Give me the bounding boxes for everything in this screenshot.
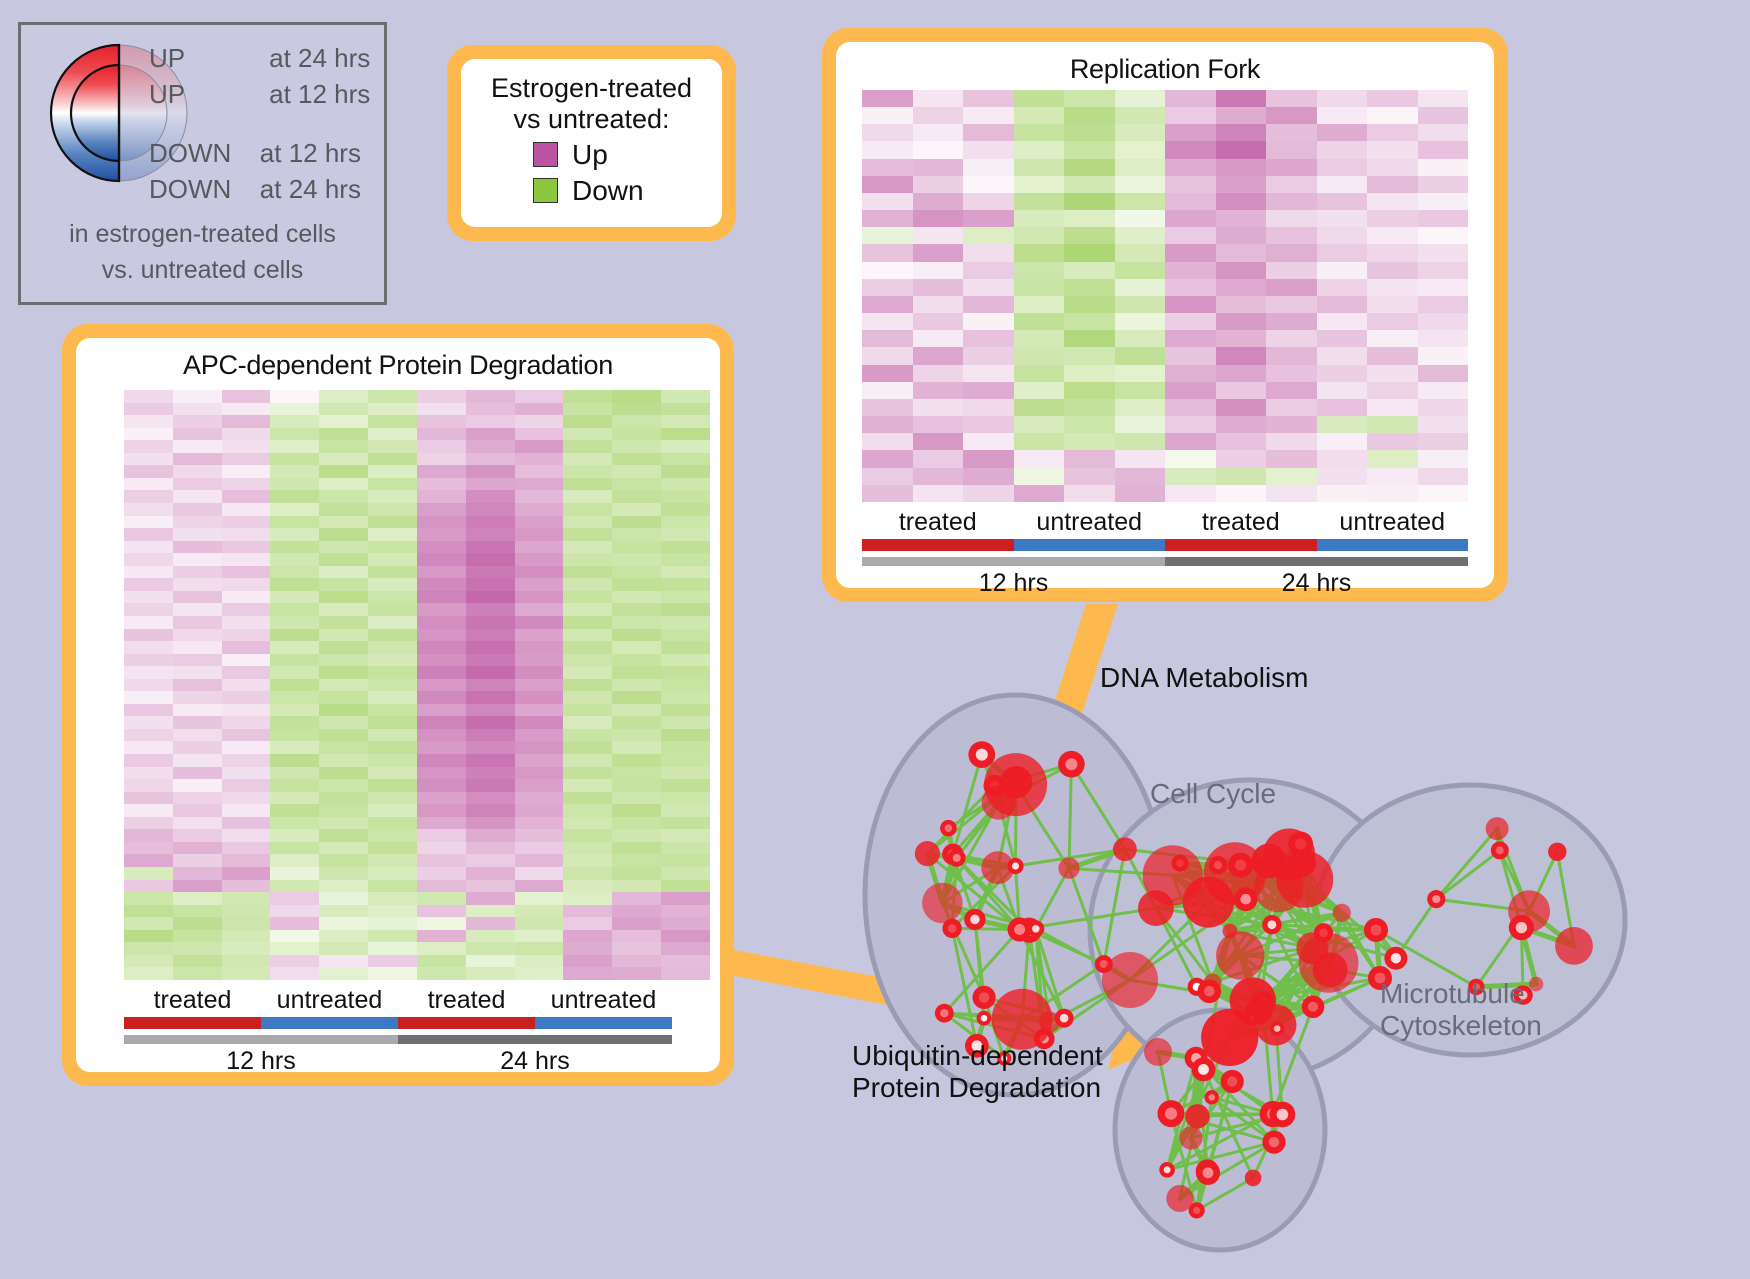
heatmap-cell (319, 516, 368, 529)
heatmap-cell (515, 767, 564, 780)
heatmap-cell (1317, 193, 1368, 210)
heatmap-cell (417, 767, 466, 780)
heatmap-cell (417, 779, 466, 792)
heatmap-cell (417, 465, 466, 478)
heatmap-cell (563, 440, 612, 453)
heatmap-cell (222, 616, 271, 629)
heatmap-cell (222, 578, 271, 591)
heatmap-cell (417, 880, 466, 893)
heatmap-cell (270, 629, 319, 642)
heatmap-cell (222, 880, 271, 893)
heatmap-cell (1216, 176, 1267, 193)
heatmap-cell (1115, 313, 1166, 330)
network-node (982, 785, 1016, 819)
network-node (1228, 853, 1253, 878)
heatmap-cell (862, 433, 913, 450)
heatmap-cell (1115, 141, 1166, 158)
heatmap-cell (661, 428, 710, 441)
heatmap-cell (1115, 124, 1166, 141)
heatmap-cell (963, 450, 1014, 467)
heatmap-cell (466, 428, 515, 441)
heatmap-cell (1115, 416, 1166, 433)
heatmap-cell (222, 641, 271, 654)
heatmap-cell (661, 754, 710, 767)
heatmap-cell (222, 767, 271, 780)
heatmap-cell (1115, 176, 1166, 193)
heatmap-cell (124, 867, 173, 880)
heatmap-cell (1367, 176, 1418, 193)
heatmap-cell (563, 829, 612, 842)
heatmap-cell (222, 779, 271, 792)
heatmap-cell (124, 616, 173, 629)
panel-title-replication-fork: Replication Fork (836, 54, 1494, 85)
heatmap-cell (563, 465, 612, 478)
axis-apc: treateduntreatedtreateduntreated 12 hrs2… (76, 986, 720, 1076)
heatmap-cell (319, 428, 368, 441)
heatmap-cell (1165, 227, 1216, 244)
heatmap-cell (563, 541, 612, 554)
heatmap-cell (1266, 210, 1317, 227)
heatmap-cell (1266, 262, 1317, 279)
heatmap-cell (270, 767, 319, 780)
heatmap-cell (515, 553, 564, 566)
heatmap-cell (173, 415, 222, 428)
heatmap-cell (1064, 433, 1115, 450)
heatmap-cell (1367, 159, 1418, 176)
heatmap-cell (515, 880, 564, 893)
heatmap-cell (661, 541, 710, 554)
panel-apc-degradation: APC-dependent Protein Degradation treate… (62, 324, 734, 1086)
heatmap-cell (515, 616, 564, 629)
heatmap-cell (173, 541, 222, 554)
heatmap-cell (661, 503, 710, 516)
network-node (1058, 858, 1079, 879)
heatmap-cell (563, 741, 612, 754)
heatmap-cell (319, 578, 368, 591)
heatmap-cell (612, 729, 661, 742)
heatmap-cell (563, 955, 612, 968)
heatmap-cell (1014, 262, 1065, 279)
heatmap-cell (1266, 279, 1317, 296)
heatmap-cell (270, 591, 319, 604)
heatmap-cell (1418, 227, 1469, 244)
heatmap-cell (417, 566, 466, 579)
heatmap-cell (963, 262, 1014, 279)
heatmap-cell (173, 867, 222, 880)
heatmap-cell (417, 503, 466, 516)
heatmap-cell (563, 516, 612, 529)
axis-group-label: treated (398, 986, 535, 1015)
network-node (1185, 1104, 1209, 1128)
heatmap-cell (1418, 210, 1469, 227)
heatmap-cell (1418, 296, 1469, 313)
heatmap-cell (222, 804, 271, 817)
heatmap-cell (612, 691, 661, 704)
heatmap-cell (124, 892, 173, 905)
heatmap-cell (1064, 450, 1115, 467)
heatmap-cell (319, 792, 368, 805)
heatmap-cell (661, 616, 710, 629)
heatmap-cell (270, 679, 319, 692)
heatmap-cell (124, 415, 173, 428)
heatmap-cell (913, 485, 964, 502)
heatmap-cell (417, 578, 466, 591)
heatmap-cell (913, 279, 964, 296)
heatmap-cell (270, 490, 319, 503)
heatmap-cell (1064, 227, 1115, 244)
heatmap-cell (222, 892, 271, 905)
panel-replication-fork: Replication Fork treateduntreatedtreated… (822, 28, 1508, 602)
heatmap-cell (1317, 468, 1368, 485)
heatmap-cell (466, 453, 515, 466)
heatmap-cell (1014, 159, 1065, 176)
heatmap-cell (124, 880, 173, 893)
heatmap-cell (1266, 485, 1317, 502)
heatmap-cell (270, 842, 319, 855)
heatmap-cell (1165, 210, 1216, 227)
heatmap-cell (173, 503, 222, 516)
heatmap-cell (563, 654, 612, 667)
heatmap-apc-degradation (124, 390, 710, 980)
heatmap-cell (515, 779, 564, 792)
heatmap-cell (222, 566, 271, 579)
heatmap-cell (1064, 193, 1115, 210)
heatmap-cell (124, 578, 173, 591)
heatmap-cell (319, 754, 368, 767)
heatmap-cell (1165, 468, 1216, 485)
axis-group-label: untreated (535, 986, 672, 1015)
heatmap-cell (515, 854, 564, 867)
heatmap-cell (963, 279, 1014, 296)
heatmap-cell (913, 193, 964, 210)
heatmap-cell (270, 566, 319, 579)
heatmap-cell (173, 817, 222, 830)
heatmap-cell (1317, 399, 1368, 416)
heatmap-cell (1367, 468, 1418, 485)
heatmap-cell (862, 468, 913, 485)
heatmap-cell (319, 779, 368, 792)
heatmap-cell (963, 468, 1014, 485)
heatmap-cell (222, 704, 271, 717)
figure-canvas: UP at 24 hrs UP at 12 hrs DOWN at 12 hrs… (0, 0, 1750, 1279)
heatmap-cell (1165, 279, 1216, 296)
heatmap-cell (222, 905, 271, 918)
heatmap-cell (661, 415, 710, 428)
heatmap-cell (466, 817, 515, 830)
heatmap-cell (515, 428, 564, 441)
heatmap-cell (1418, 330, 1469, 347)
heatmap-cell (563, 867, 612, 880)
heatmap-cell (1115, 485, 1166, 502)
heatmap-cell (963, 416, 1014, 433)
heatmap-cell (1115, 347, 1166, 364)
heatmap-cell (417, 930, 466, 943)
legend-dial-label-3: DOWN (149, 174, 231, 204)
heatmap-cell (417, 804, 466, 817)
heatmap-cell (466, 754, 515, 767)
heatmap-cell (173, 578, 222, 591)
heatmap-cell (612, 528, 661, 541)
heatmap-cell (124, 930, 173, 943)
heatmap-cell (612, 880, 661, 893)
heatmap-cell (661, 440, 710, 453)
heatmap-cell (270, 829, 319, 842)
heatmap-cell (515, 578, 564, 591)
heatmap-cell (612, 390, 661, 403)
heatmap-cell (515, 666, 564, 679)
heatmap-cell (319, 528, 368, 541)
heatmap-cell (563, 666, 612, 679)
heatmap-cell (612, 428, 661, 441)
heatmap-cell (417, 453, 466, 466)
heatmap-cell (417, 867, 466, 880)
heatmap-cell (563, 490, 612, 503)
heatmap-cell (124, 967, 173, 980)
heatmap-cell (124, 553, 173, 566)
heatmap-cell (1317, 210, 1368, 227)
heatmap-cell (173, 654, 222, 667)
heatmap-cell (1064, 279, 1115, 296)
heatmap-cell (124, 641, 173, 654)
heatmap-cell (466, 490, 515, 503)
heatmap-cell (1317, 382, 1368, 399)
heatmap-cell (124, 955, 173, 968)
heatmap-cell (222, 867, 271, 880)
heatmap-cell (417, 490, 466, 503)
heatmap-cell (1064, 107, 1115, 124)
heatmap-cell (515, 942, 564, 955)
heatmap-cell (1367, 485, 1418, 502)
axis-time-segment (1165, 557, 1468, 566)
heatmap-cell (963, 141, 1014, 158)
heatmap-cell (124, 654, 173, 667)
heatmap-cell (368, 905, 417, 918)
axis-group-segment (535, 1017, 672, 1029)
heatmap-cell (963, 313, 1014, 330)
network-node (942, 919, 961, 938)
heatmap-cell (661, 942, 710, 955)
heatmap-cell (515, 415, 564, 428)
heatmap-cell (368, 767, 417, 780)
heatmap-cell (173, 465, 222, 478)
heatmap-cell (319, 654, 368, 667)
heatmap-cell (270, 804, 319, 817)
heatmap-cell (963, 433, 1014, 450)
heatmap-cell (1115, 193, 1166, 210)
heatmap-cell (270, 779, 319, 792)
heatmap-cell (173, 616, 222, 629)
heatmap-cell (1115, 399, 1166, 416)
heatmap-cell (515, 516, 564, 529)
heatmap-cell (1266, 90, 1317, 107)
heatmap-cell (1115, 433, 1166, 450)
heatmap-cell (368, 465, 417, 478)
heatmap-cell (124, 490, 173, 503)
heatmap-cell (270, 704, 319, 717)
heatmap-cell (368, 616, 417, 629)
heatmap-cell (319, 641, 368, 654)
heatmap-cell (270, 641, 319, 654)
heatmap-cell (661, 566, 710, 579)
gradient-legend-box: UP at 24 hrs UP at 12 hrs DOWN at 12 hrs… (18, 22, 387, 305)
network-node (968, 741, 995, 768)
network-node (1159, 1162, 1175, 1178)
heatmap-cell (1216, 450, 1267, 467)
heatmap-cell (417, 917, 466, 930)
heatmap-cell (1266, 107, 1317, 124)
heatmap-cell (515, 654, 564, 667)
heatmap-cell (1418, 399, 1469, 416)
heatmap-cell (1317, 124, 1368, 141)
heatmap-cell (612, 767, 661, 780)
heatmap-cell (913, 262, 964, 279)
heatmap-cell (563, 905, 612, 918)
heatmap-cell (270, 528, 319, 541)
heatmap-cell (661, 553, 710, 566)
heatmap-cell (1064, 347, 1115, 364)
heatmap-cell (563, 428, 612, 441)
heatmap-cell (1115, 382, 1166, 399)
heatmap-cell (612, 666, 661, 679)
heatmap-cell (417, 829, 466, 842)
heatmap-cell (1266, 193, 1317, 210)
heatmap-cell (222, 792, 271, 805)
heatmap-cell (913, 365, 964, 382)
heatmap-cell (1266, 450, 1317, 467)
heatmap-cell (1367, 296, 1418, 313)
heatmap-cell (222, 415, 271, 428)
heatmap-cell (368, 792, 417, 805)
heatmap-cell (515, 817, 564, 830)
heatmap-cell (862, 141, 913, 158)
heatmap-cell (1266, 468, 1317, 485)
network-node (1205, 1090, 1219, 1104)
heatmap-cell (515, 955, 564, 968)
heatmap-cell (368, 817, 417, 830)
heatmap-cell (173, 917, 222, 930)
heatmap-cell (466, 829, 515, 842)
axis-group-colorbar (862, 539, 1468, 551)
heatmap-cell (612, 741, 661, 754)
heatmap-cell (612, 716, 661, 729)
heatmap-cell (1014, 124, 1065, 141)
heatmap-cell (612, 792, 661, 805)
heatmap-cell (612, 854, 661, 867)
heatmap-cell (612, 817, 661, 830)
heatmap-cell (1367, 141, 1418, 158)
heatmap-cell (368, 553, 417, 566)
heatmap-cell (270, 754, 319, 767)
heatmap-cell (1064, 210, 1115, 227)
heatmap-cell (222, 955, 271, 968)
heatmap-cell (466, 741, 515, 754)
heatmap-cell (417, 741, 466, 754)
heatmap-cell (1064, 485, 1115, 502)
heatmap-cell (222, 516, 271, 529)
heatmap-cell (173, 942, 222, 955)
heatmap-cell (466, 465, 515, 478)
heatmap-cell (1064, 90, 1115, 107)
heatmap-cell (612, 591, 661, 604)
heatmap-cell (862, 450, 913, 467)
heatmap-cell (270, 654, 319, 667)
heatmap-cell (1418, 159, 1469, 176)
heatmap-cell (173, 741, 222, 754)
heatmap-cell (1165, 450, 1216, 467)
heatmap-cell (515, 603, 564, 616)
heatmap-cell (466, 528, 515, 541)
heatmap-cell (1165, 141, 1216, 158)
heatmap-cell (515, 892, 564, 905)
heatmap-cell (222, 553, 271, 566)
heatmap-cell (1317, 244, 1368, 261)
heatmap-cell (563, 591, 612, 604)
heatmap-cell (563, 403, 612, 416)
heatmap-cell (270, 930, 319, 943)
heatmap-cell (368, 829, 417, 842)
heatmap-cell (173, 754, 222, 767)
heatmap-cell (1216, 244, 1267, 261)
heatmap-cell (222, 478, 271, 491)
heatmap-cell (1014, 176, 1065, 193)
heatmap-cell (612, 503, 661, 516)
heatmap-cell (612, 955, 661, 968)
heatmap-cell (1266, 382, 1317, 399)
heatmap-cell (124, 603, 173, 616)
heatmap-cell (466, 516, 515, 529)
heatmap-cell (270, 453, 319, 466)
heatmap-cell (417, 516, 466, 529)
heatmap-cell (368, 842, 417, 855)
heatmap-cell (612, 917, 661, 930)
heatmap-cell (173, 829, 222, 842)
heatmap-cell (270, 415, 319, 428)
heatmap-cell (222, 591, 271, 604)
heatmap-cell (124, 390, 173, 403)
heatmap-cell (913, 416, 964, 433)
heatmap-cell (963, 90, 1014, 107)
heatmap-cell (466, 541, 515, 554)
heatmap-cell (612, 490, 661, 503)
heatmap-cell (319, 453, 368, 466)
network-node (1192, 1057, 1216, 1081)
axis-group-segment (261, 1017, 398, 1029)
heatmap-cell (1418, 124, 1469, 141)
heatmap-cell (563, 892, 612, 905)
heatmap-cell (1216, 141, 1267, 158)
heatmap-cell (563, 553, 612, 566)
heatmap-cell (661, 792, 710, 805)
axis-group-segment (1317, 539, 1469, 551)
heatmap-cell (963, 210, 1014, 227)
heatmap-cell (862, 399, 913, 416)
heatmap-cell (466, 930, 515, 943)
heatmap-cell (1367, 244, 1418, 261)
heatmap-cell (515, 641, 564, 654)
heatmap-cell (1014, 485, 1065, 502)
heatmap-cell (466, 616, 515, 629)
heatmap-cell (270, 917, 319, 930)
axis-group-label: treated (862, 508, 1014, 537)
network-node (1302, 996, 1325, 1019)
heatmap-cell (173, 955, 222, 968)
heatmap-cell (222, 390, 271, 403)
heatmap-cell (173, 553, 222, 566)
heatmap-cell (222, 842, 271, 855)
heatmap-cell (1064, 176, 1115, 193)
color-key-box: Estrogen-treated vs untreated: Up Down (447, 45, 736, 241)
heatmap-cell (661, 804, 710, 817)
